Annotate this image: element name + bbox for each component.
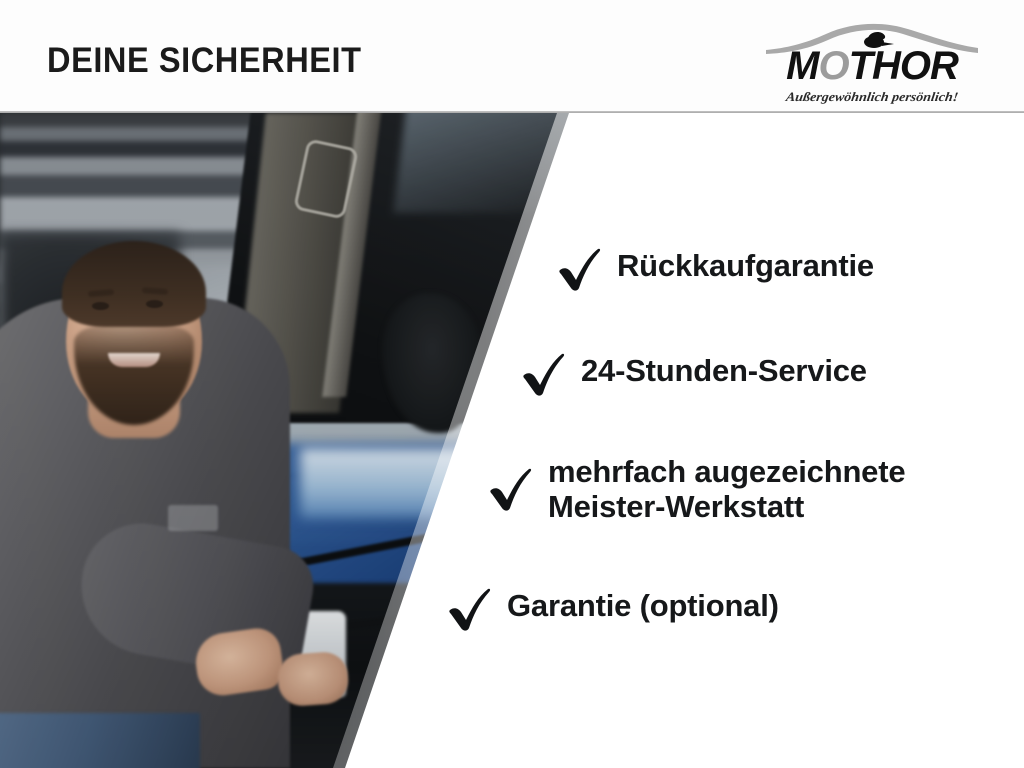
logo-letter-m: M — [786, 44, 818, 88]
list-item-label-line2: Meister-Werkstatt — [548, 490, 905, 525]
benefits-checklist: Rückkaufgarantie 24-Stunden-Service mehr… — [0, 113, 1024, 768]
header-bar: DEINE SICHERHEIT MOTHOR Außergewöhnlich … — [0, 0, 1024, 113]
content-area: Rückkaufgarantie 24-Stunden-Service mehr… — [0, 113, 1024, 768]
mothor-logo[interactable]: MOTHOR Außergewöhnlich persönlich! — [764, 20, 980, 108]
slide-root: DEINE SICHERHEIT MOTHOR Außergewöhnlich … — [0, 0, 1024, 768]
list-item-label: Garantie (optional) — [507, 585, 779, 624]
logo-letter-o: O — [818, 44, 848, 88]
list-item[interactable]: mehrfach augezeichneteMeister-Werkstatt — [488, 451, 905, 524]
list-item-label: Rückkaufgarantie — [617, 245, 874, 284]
logo-wordmark: MOTHOR — [766, 46, 978, 86]
checkmark-icon — [521, 350, 567, 398]
checkmark-icon — [557, 245, 603, 293]
checkmark-icon — [488, 465, 534, 513]
checkmark-icon — [447, 585, 493, 633]
logo-letters-thor: THOR — [849, 44, 958, 88]
page-title: DEINE SICHERHEIT — [47, 41, 362, 81]
list-item[interactable]: Garantie (optional) — [447, 585, 779, 633]
list-item[interactable]: Rückkaufgarantie — [557, 245, 874, 293]
list-item-label: 24-Stunden-Service — [581, 350, 867, 389]
logo-tagline: Außergewöhnlich persönlich! — [763, 91, 981, 106]
list-item[interactable]: 24-Stunden-Service — [521, 350, 867, 398]
list-item-label: mehrfach augezeichneteMeister-Werkstatt — [548, 451, 905, 524]
